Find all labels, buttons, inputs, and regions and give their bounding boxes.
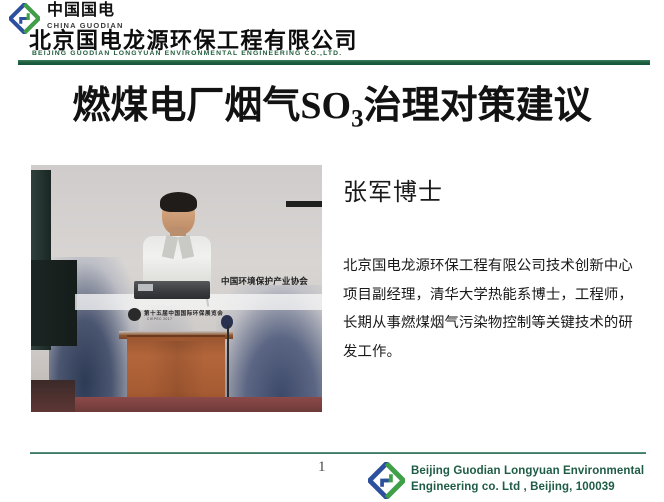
photo-banner-subtitle-en: CIEPEC 2017 <box>147 317 172 321</box>
footer-company-line-1: Beijing Guodian Longyuan Environmental <box>411 464 644 480</box>
title-part-1: 燃煤电厂烟气 <box>72 83 300 127</box>
photo-dark-panel <box>31 260 77 346</box>
speaker-name: 张军博士 <box>343 178 443 208</box>
photo-banner-text: 中国环境保护产业协会 <box>221 275 308 287</box>
photo-floor-left-shadow <box>31 380 75 412</box>
guodian-pinwheel-logo-icon <box>368 462 405 499</box>
footer-divider-line <box>30 452 646 454</box>
title-formula-base: SO <box>300 85 351 127</box>
footer-company-line-2: Engineering co. Ltd , Beijing, 100039 <box>411 480 644 496</box>
company-name-en: BEIJING GUODIAN LONGYUAN ENVIRONMENTAL E… <box>32 50 342 58</box>
footer-company-address: Beijing Guodian Longyuan Environmental E… <box>411 464 644 495</box>
photo-speaker-hair <box>160 192 197 212</box>
title-part-2: 治理对策建议 <box>364 83 592 127</box>
page-title: 燃煤电厂烟气SO3治理对策建议 <box>0 80 664 131</box>
slide-header: 中国国电 CHINA GUODIAN 北京国电龙源环保工程有限公司 BEIJIN… <box>0 0 664 62</box>
header-divider-bar <box>18 60 650 65</box>
photo-laptop-screen <box>138 284 153 291</box>
photo-banner-bar-top <box>286 201 322 207</box>
circular-emblem-icon <box>128 308 141 321</box>
speaker-bio: 北京国电龙源环保工程有限公司技术创新中心项目副经理，清华大学热能系博士，工程师，… <box>343 252 641 366</box>
group-name-cn: 中国国电 <box>47 2 115 20</box>
page-number: 1 <box>318 458 326 476</box>
speaker-photo: 中国环境保护产业协会 第十五届中国国际环保展览会 CIEPEC 2017 <box>31 165 322 412</box>
photo-banner-subtitle: 第十五届中国国际环保展览会 <box>144 309 223 317</box>
title-formula-subscript: 3 <box>351 106 364 133</box>
